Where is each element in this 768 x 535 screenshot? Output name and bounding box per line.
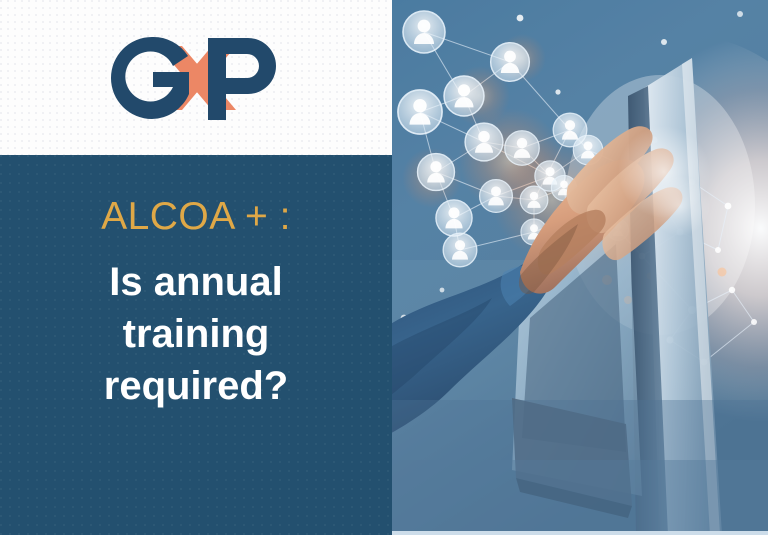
avatar-node xyxy=(505,131,539,165)
logo-letter-g xyxy=(111,36,189,118)
eyebrow-text: ALCOA + : xyxy=(101,197,291,236)
headline-text: Is annual training required? xyxy=(104,256,288,412)
hero-bottom-edge xyxy=(392,531,768,535)
avatar-node xyxy=(418,154,455,191)
logo-letter-p xyxy=(208,38,276,120)
avatar-node xyxy=(491,43,530,82)
avatar-node xyxy=(465,123,503,161)
avatar-node xyxy=(398,90,442,134)
logo-panel xyxy=(0,0,392,155)
avatar-node xyxy=(480,180,513,213)
avatar-node xyxy=(403,11,445,53)
promotional-banner: ALCOA + : Is annual training required? xyxy=(0,0,768,535)
avatar-node xyxy=(520,186,548,214)
left-column: ALCOA + : Is annual training required? xyxy=(0,0,392,535)
headline-line-3: required? xyxy=(104,360,288,412)
headline-line-2: training xyxy=(104,308,288,360)
headline-line-1: Is annual xyxy=(104,256,288,308)
headline-panel: ALCOA + : Is annual training required? xyxy=(0,155,392,535)
avatar-node xyxy=(444,76,484,116)
gxp-logo[interactable] xyxy=(96,32,296,124)
avatar-node xyxy=(443,233,477,267)
hero-image xyxy=(392,0,768,535)
avatar-node xyxy=(436,200,472,236)
